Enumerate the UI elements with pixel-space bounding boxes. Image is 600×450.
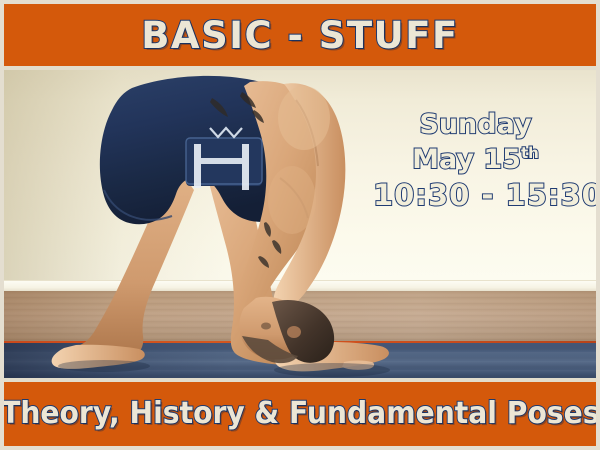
- yoga-class-poster: Sunday May 15th 10:30 - 15:30 BASIC - ST…: [0, 0, 600, 450]
- shorts-stripe-2: [242, 144, 249, 190]
- rear-foot-shadow: [58, 360, 150, 372]
- poster-title: BASIC - STUFF: [141, 17, 459, 54]
- schedule-block: Sunday May 15th 10:30 - 15:30: [373, 108, 578, 214]
- shoulder-highlight: [278, 86, 330, 150]
- poster-subtitle: Theory, History & Fundamental Poses: [1, 399, 599, 429]
- schedule-date-ordinal: th: [521, 144, 539, 162]
- shorts-stripe-cross: [201, 158, 242, 164]
- schedule-time: 10:30 - 15:30: [373, 177, 578, 214]
- schedule-date-number: May 15: [412, 144, 521, 175]
- eye: [261, 323, 271, 330]
- schedule-date: May 15th: [373, 143, 578, 178]
- top-banner: BASIC - STUFF: [4, 4, 596, 66]
- front-foot-shadow: [274, 363, 390, 377]
- schedule-day: Sunday: [373, 108, 578, 143]
- shorts-stripe-1: [194, 144, 201, 188]
- tricep-highlight: [268, 166, 316, 234]
- ear: [287, 326, 301, 338]
- bottom-banner: Theory, History & Fundamental Poses: [4, 382, 596, 446]
